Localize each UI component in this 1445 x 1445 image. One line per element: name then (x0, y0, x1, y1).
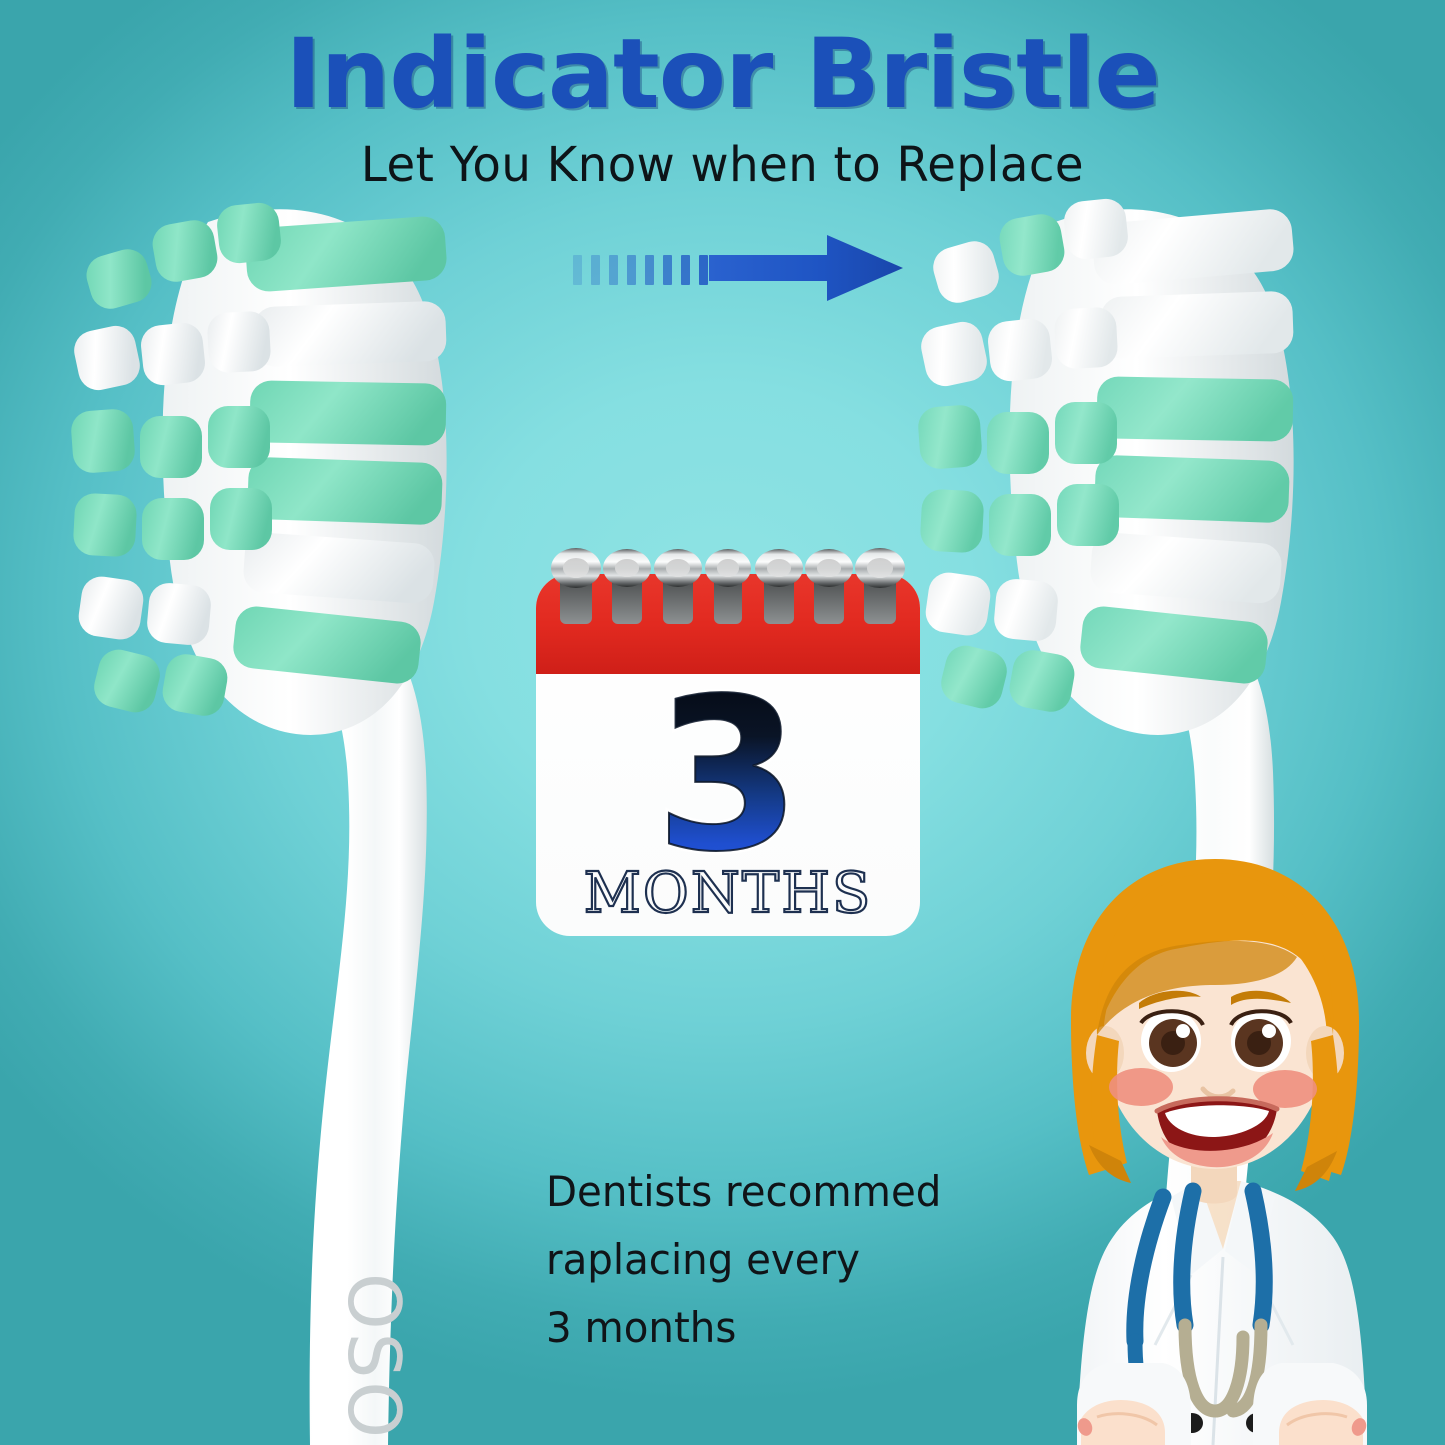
recommendation-line-3: 3 months (546, 1294, 997, 1362)
poster-canvas: OSO (0, 0, 1445, 1445)
calendar-unit-label: MONTHS (584, 861, 873, 926)
calendar-3-months: 3 3 MONTHS (528, 548, 928, 943)
toothbrush-new: OSO (58, 182, 478, 1445)
page-title: Indicator Bristle (0, 18, 1445, 130)
eye-right (1231, 1010, 1291, 1072)
page-subtitle: Let You Know when to Replace (22, 137, 1424, 193)
brand-logo-text: OSO (332, 1273, 416, 1441)
arrow-dash-trail (573, 255, 708, 285)
female-dentist-illustration (985, 845, 1445, 1445)
recommendation-text: Dentists recommed raplacing every 3 mont… (546, 1158, 997, 1362)
recommendation-line-2: raplacing every (546, 1226, 997, 1294)
arrow-head-icon (709, 233, 903, 308)
progress-arrow (573, 233, 903, 303)
cheek-left (1109, 1068, 1173, 1106)
recommendation-line-1: Dentists recommed (546, 1158, 997, 1226)
